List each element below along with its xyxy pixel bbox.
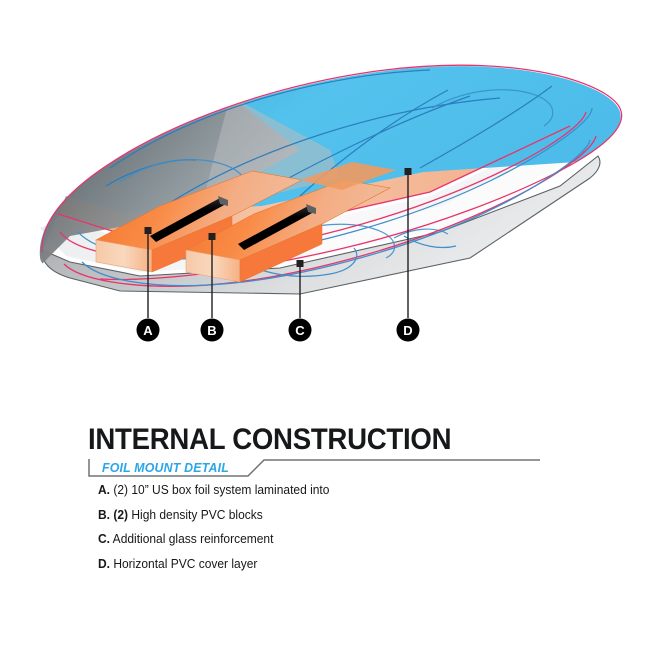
legend-item-a: A. (2) 10” US box foil system laminated … (98, 484, 578, 497)
callout-b-dot (209, 233, 216, 240)
legend-bold-b: (2) (113, 508, 128, 522)
legend-item-d: D. Horizontal PVC cover layer (98, 558, 578, 571)
page-title: INTERNAL CONSTRUCTION (88, 425, 451, 455)
subtitle-tab: FOIL MOUNT DETAIL (88, 458, 558, 482)
callout-d-letter: D (403, 323, 412, 338)
legend-key-b: B. (98, 508, 110, 522)
legend-key-c: C. (98, 532, 110, 546)
callout-d-dot (405, 168, 412, 175)
legend-list: A. (2) 10” US box foil system laminated … (98, 484, 598, 582)
legend-item-c: C. Additional glass reinforcement (98, 533, 578, 546)
legend-item-b: B. (2) High density PVC blocks (98, 509, 578, 522)
caption-block: INTERNAL CONSTRUCTION FOIL MOUNT DETAIL … (0, 420, 650, 650)
legend-key-d: D. (98, 557, 110, 571)
legend-text-b: High density PVC blocks (131, 508, 262, 522)
board-cutaway-svg: A B C (0, 0, 650, 400)
legend-text-c: Additional glass reinforcement (113, 532, 274, 546)
callout-c-letter: C (295, 323, 305, 338)
legend-text-a: (2) 10” US box foil system laminated int… (113, 483, 329, 497)
page-root: A B C (0, 0, 650, 650)
callout-b-letter: B (207, 323, 216, 338)
board-cutaway-illustration: A B C (0, 0, 650, 400)
legend-text-d: Horizontal PVC cover layer (113, 557, 257, 571)
callout-a-dot (145, 227, 152, 234)
legend-key-a: A. (98, 483, 110, 497)
subtitle-label: FOIL MOUNT DETAIL (102, 461, 229, 475)
callout-a-letter: A (143, 323, 153, 338)
callout-c-dot (297, 260, 304, 267)
